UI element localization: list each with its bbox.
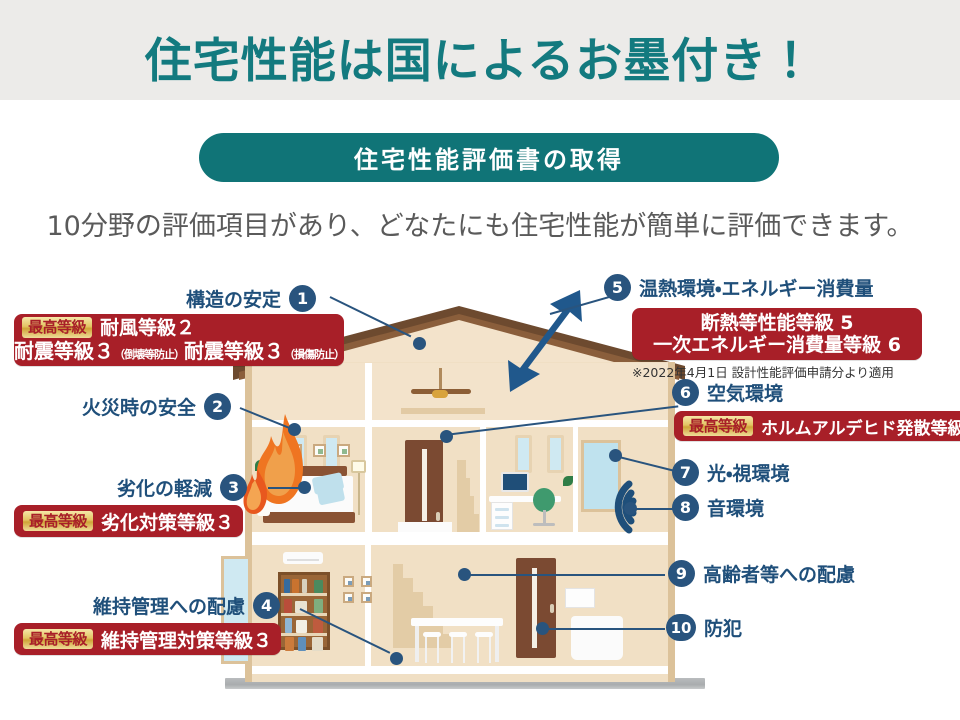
wall-picture-5 — [361, 576, 372, 587]
partition-right — [573, 426, 578, 532]
wall-picture-7 — [361, 592, 372, 603]
window-upper-4 — [547, 435, 564, 473]
floor-slab-first — [252, 666, 668, 674]
badge-5: 断熱等性能等級 5 一次エネルギー消費量等級 6 — [632, 308, 922, 360]
partition-left — [365, 363, 372, 533]
badge-5-line1: 断熱等性能等級 5 — [701, 312, 854, 334]
badge-1-line2a: 耐震等級３ — [14, 340, 114, 364]
badge-1: 最高等級 耐風等級２ 耐震等級３ （倒壊等防止） 耐震等級３ （損傷防止） — [14, 314, 344, 366]
badge-4-text: 維持管理対策等級３ — [101, 626, 272, 653]
leader-dot-9 — [458, 568, 471, 581]
bathtub — [571, 616, 623, 660]
subtitle-text: 10分野の評価項目があり、どなたにも住宅性能が簡単に評価できます。 — [0, 204, 960, 243]
leader-line-10 — [543, 628, 665, 630]
stair-step-u2 — [457, 496, 474, 514]
callout-6-number: 6 — [672, 379, 699, 406]
callout-4-label: 維持管理への配慮 — [93, 592, 245, 619]
callout-2-number: 2 — [204, 393, 231, 420]
callout-10-label: 防犯 — [704, 614, 742, 641]
window-upper-3 — [515, 435, 532, 473]
infographic-root: 住宅性能は国によるお墨付き！ 住宅性能評価書の取得 10分野の評価項目があり、ど… — [0, 0, 960, 720]
badge-3-rank: 最高等級 — [23, 511, 93, 532]
stair-step-g3 — [393, 592, 423, 606]
callout-9-label: 高齢者等への配慮 — [703, 560, 855, 587]
callout-9-number: 9 — [668, 560, 695, 587]
stair-step-u4 — [457, 460, 466, 478]
leader-dot-6 — [440, 430, 453, 443]
callout-7-label: 光・視環境 — [707, 459, 789, 486]
badge-1-line2a-paren: （倒壊等防止） — [114, 349, 184, 362]
wall-picture-2 — [313, 444, 326, 457]
callout-8[interactable]: 8 音環境 — [672, 494, 764, 521]
stair-step-u3 — [457, 478, 470, 496]
badge-3-text: 劣化対策等級３ — [101, 508, 234, 535]
dining-table-top — [411, 618, 503, 626]
floor-lamp-stem — [358, 473, 360, 515]
attic-beam — [401, 408, 485, 414]
upper-hall-floor — [398, 522, 452, 532]
badge-1-line2b: 耐震等級３ — [184, 340, 284, 364]
callout-4[interactable]: 維持管理への配慮 4 — [93, 592, 280, 619]
badge-6-rank: 最高等級 — [683, 416, 753, 437]
floor-lamp-shade — [351, 460, 366, 473]
page-title: 住宅性能は国によるお墨付き！ — [0, 22, 960, 91]
ceiling-fan-hub — [432, 390, 448, 398]
callout-2[interactable]: 火災時の安全 2 — [82, 393, 231, 420]
callout-9[interactable]: 9 高齢者等への配慮 — [668, 560, 855, 587]
callout-8-label: 音環境 — [707, 494, 764, 521]
callout-1[interactable]: 構造の安定 1 — [186, 285, 316, 312]
callout-10-number: 10 — [666, 614, 696, 641]
stair-step-g2 — [393, 578, 413, 592]
callout-6[interactable]: 6 空気環境 — [672, 379, 783, 406]
leader-dot-8 — [624, 502, 637, 515]
stair-step-u1 — [457, 514, 479, 532]
badge-4-rank: 最高等級 — [23, 629, 93, 650]
section-banner-label: 住宅性能評価書の取得 — [354, 140, 624, 175]
callout-3-number: 3 — [220, 474, 247, 501]
badge-1-rank: 最高等級 — [22, 317, 92, 338]
callout-10[interactable]: 10 防犯 — [666, 614, 742, 641]
office-chair-back — [533, 488, 555, 512]
leader-dot-1 — [413, 337, 426, 350]
leader-dot-10 — [536, 622, 549, 635]
floor-slab-attic — [252, 420, 668, 427]
leader-dot-4 — [390, 652, 403, 665]
callout-3-label: 劣化の軽減 — [117, 474, 212, 501]
leader-dot-2 — [288, 423, 301, 436]
callout-7-number: 7 — [672, 459, 699, 486]
partition-mid — [480, 426, 486, 532]
wall-picture-3 — [337, 444, 350, 457]
leader-line-9 — [465, 574, 665, 576]
ceiling-fan-pole — [439, 368, 442, 390]
callout-8-number: 8 — [672, 494, 699, 521]
badge-6: 最高等級 ホルムアルデヒド発散等級3 — [674, 411, 960, 441]
callout-5-number: 5 — [604, 274, 631, 301]
callout-5[interactable]: 5 温熱環境・エネルギー消費量 — [604, 274, 873, 301]
badge-3: 最高等級 劣化対策等級３ — [14, 505, 243, 537]
dining-table-leg-right — [495, 626, 499, 662]
badge-6-text: ホルムアルデヒド発散等級3 — [761, 414, 960, 439]
office-chair-stem — [543, 510, 546, 524]
callout-7[interactable]: 7 光・視環境 — [672, 459, 789, 486]
fire-icon — [241, 410, 313, 530]
stair-step-g1 — [393, 564, 403, 578]
badge-1-line1: 耐風等級２ — [100, 317, 195, 339]
callout-2-label: 火災時の安全 — [82, 393, 196, 420]
callout-6-label: 空気環境 — [707, 379, 783, 406]
callout-1-label: 構造の安定 — [186, 285, 281, 312]
interior-door-ground — [516, 558, 556, 658]
wall-picture-6 — [343, 592, 354, 603]
badge-4: 最高等級 維持管理対策等級３ — [14, 623, 281, 655]
plant-leaf-office — [563, 476, 573, 486]
partition-ground-left — [365, 545, 371, 673]
monitor — [501, 472, 529, 492]
callout-5-label: 温熱環境・エネルギー消費量 — [639, 274, 873, 301]
desk-cabinet — [491, 502, 513, 530]
dining-table-leg-left — [415, 626, 419, 662]
office-chair-base — [533, 523, 555, 526]
wall-picture-4 — [343, 576, 354, 587]
leader-dot-7 — [609, 449, 622, 462]
leader-dot-3 — [298, 481, 311, 494]
air-conditioner — [283, 552, 323, 564]
interior-door-upper — [405, 440, 443, 532]
callout-1-number: 1 — [289, 285, 316, 312]
callout-4-number: 4 — [253, 592, 280, 619]
badge-1-line2b-paren: （損傷防止） — [284, 349, 344, 362]
bath-counter — [565, 588, 595, 608]
badge-5-line2: 一次エネルギー消費量等級 6 — [653, 334, 901, 356]
section-banner: 住宅性能評価書の取得 — [199, 133, 779, 182]
callout-3[interactable]: 劣化の軽減 3 — [117, 474, 247, 501]
